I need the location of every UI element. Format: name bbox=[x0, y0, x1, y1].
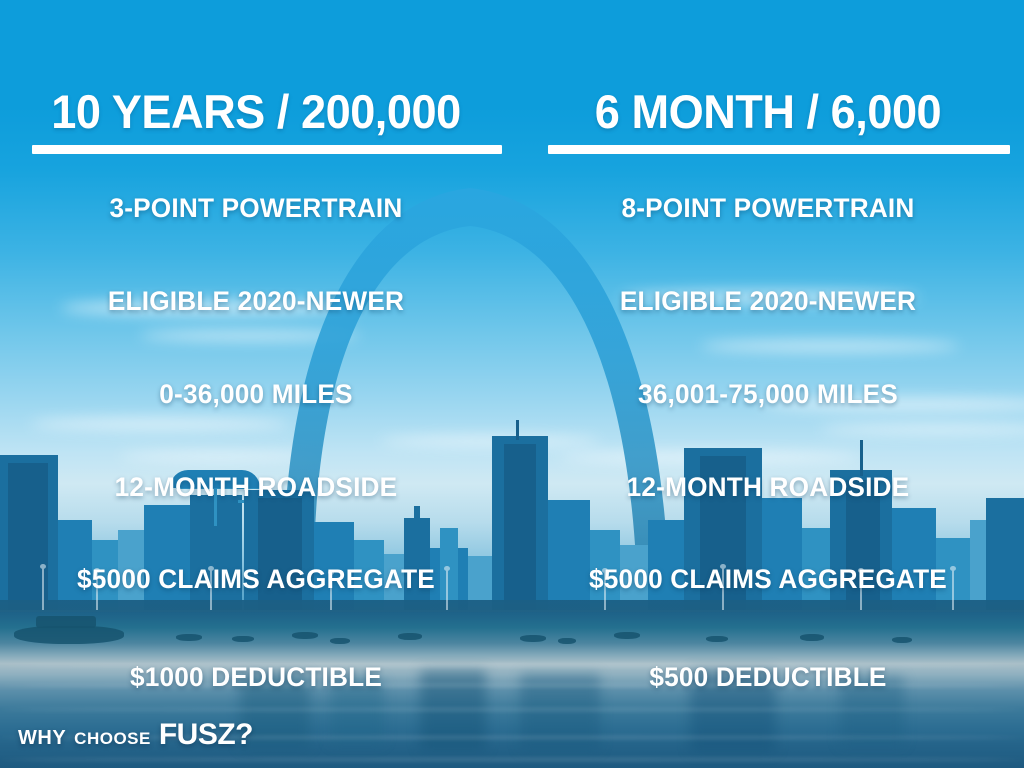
plan-row-right-3: 36,001-75,000 MILES bbox=[520, 381, 1017, 408]
heading-underline-left bbox=[32, 145, 502, 154]
plan-row-left-2: ELIGIBLE 2020-NEWER bbox=[8, 288, 505, 315]
plan-column-right: 6 MONTH / 6,000 8-POINT POWERTRAIN ELIGI… bbox=[512, 0, 1024, 768]
logo-brand-text: FUSZ? bbox=[159, 718, 253, 752]
plan-row-left-5: $5000 CLAIMS AGGREGATE bbox=[8, 566, 505, 593]
plan-heading-right: 6 MONTH / 6,000 bbox=[522, 88, 1014, 135]
fusz-logo: WHY CHOOSE FUSZ? bbox=[18, 718, 253, 752]
plan-row-right-4: 12-MONTH ROADSIDE bbox=[520, 474, 1017, 501]
plan-row-left-1: 3-POINT POWERTRAIN bbox=[8, 195, 505, 222]
slide-root: 10 YEARS / 200,000 3-POINT POWERTRAIN EL… bbox=[0, 0, 1024, 768]
logo-why-text: WHY bbox=[18, 727, 66, 750]
plan-heading-left: 10 YEARS / 200,000 bbox=[10, 88, 502, 135]
heading-underline-right bbox=[548, 145, 1010, 154]
plan-column-left: 10 YEARS / 200,000 3-POINT POWERTRAIN EL… bbox=[0, 0, 512, 768]
plan-row-left-3: 0-36,000 MILES bbox=[8, 381, 505, 408]
plan-row-right-2: ELIGIBLE 2020-NEWER bbox=[520, 288, 1017, 315]
logo-choose-text: CHOOSE bbox=[74, 729, 151, 749]
plan-row-right-1: 8-POINT POWERTRAIN bbox=[520, 195, 1017, 222]
plan-row-right-5: $5000 CLAIMS AGGREGATE bbox=[520, 566, 1017, 593]
slide-content: 10 YEARS / 200,000 3-POINT POWERTRAIN EL… bbox=[0, 0, 1024, 768]
plan-row-left-6: $1000 DEDUCTIBLE bbox=[8, 664, 505, 691]
plan-row-right-6: $500 DEDUCTIBLE bbox=[520, 664, 1017, 691]
plan-row-left-4: 12-MONTH ROADSIDE bbox=[8, 474, 505, 501]
